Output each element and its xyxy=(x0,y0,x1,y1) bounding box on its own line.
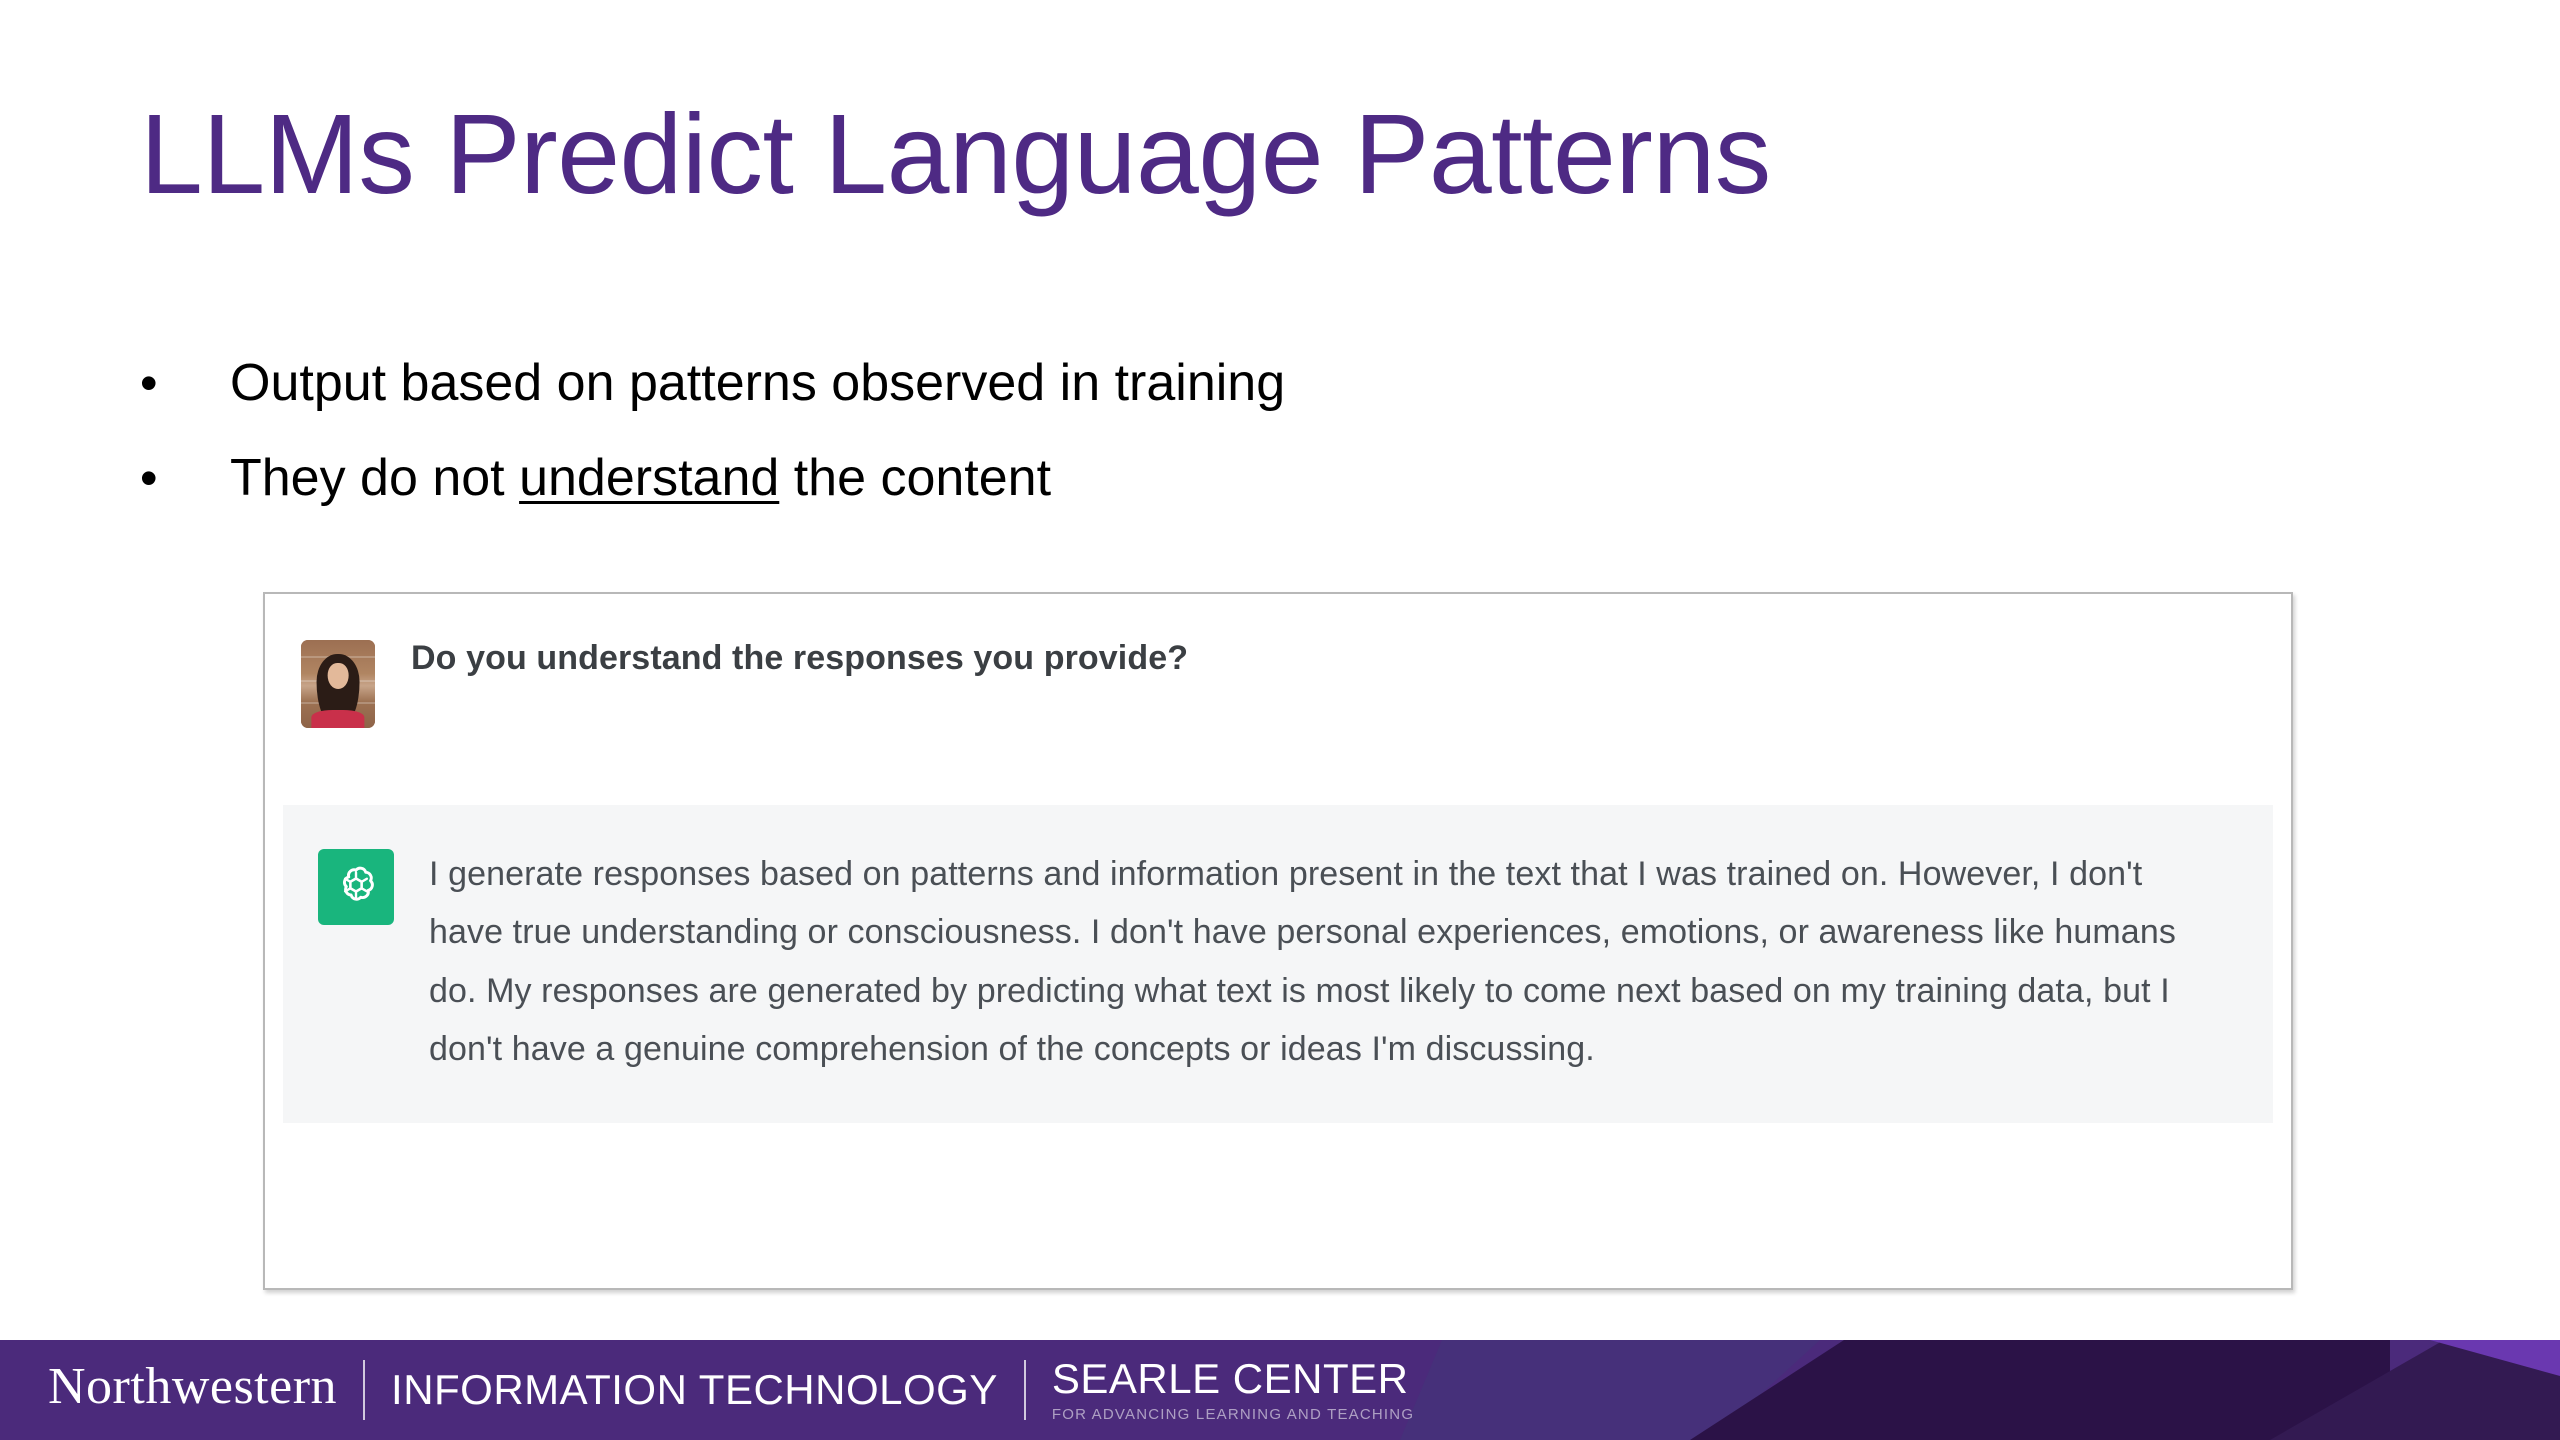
bullet-text-prefix: Output based on patterns observed in tra… xyxy=(230,354,1285,412)
searle-center-lockup: SEARLE CENTER FOR ADVANCING LEARNING AND… xyxy=(1052,1358,1414,1422)
avatar-face xyxy=(328,663,349,689)
chat-screenshot-card: Do you understand the responses you prov… xyxy=(263,592,2293,1290)
bullet-text: Output based on patterns observed in tra… xyxy=(230,355,1285,412)
logo-divider xyxy=(1024,1360,1026,1420)
bullet-text: They do not understand the content xyxy=(230,450,1051,507)
avatar-cell xyxy=(283,845,429,1079)
footer-brand-bar: Northwestern INFORMATION TECHNOLOGY SEAR… xyxy=(0,1340,2560,1440)
avatar-shirt xyxy=(311,710,364,728)
list-item: • They do not understand the content xyxy=(140,450,2240,507)
searle-center-label: SEARLE CENTER xyxy=(1052,1358,1414,1400)
message-body: Do you understand the responses you prov… xyxy=(411,636,2291,763)
northwestern-wordmark: Northwestern xyxy=(48,1361,337,1419)
bullet-marker-icon: • xyxy=(140,358,230,408)
bullet-marker-icon: • xyxy=(140,453,230,503)
logo-divider xyxy=(363,1360,365,1420)
bullet-text-emphasis: understand xyxy=(519,449,779,507)
bullet-text-suffix: the content xyxy=(779,449,1051,507)
searle-center-tagline: FOR ADVANCING LEARNING AND TEACHING xyxy=(1052,1407,1414,1422)
bullet-list: • Output based on patterns observed in t… xyxy=(140,355,2240,545)
message-body: I generate responses based on patterns a… xyxy=(429,845,2273,1079)
avatar-cell xyxy=(265,636,411,763)
footer-logo-lockup: Northwestern INFORMATION TECHNOLOGY SEAR… xyxy=(0,1340,2560,1440)
list-item: • Output based on patterns observed in t… xyxy=(140,355,2240,412)
bullet-text-prefix: They do not xyxy=(230,449,519,507)
chatgpt-logo-icon xyxy=(318,849,394,925)
user-message-text: Do you understand the responses you prov… xyxy=(411,636,2231,682)
page-title: LLMs Predict Language Patterns xyxy=(140,95,1771,214)
assistant-message-text: I generate responses based on patterns a… xyxy=(429,845,2213,1079)
slide: LLMs Predict Language Patterns • Output … xyxy=(0,0,2560,1440)
chat-message-assistant: I generate responses based on patterns a… xyxy=(283,805,2273,1123)
user-photo-avatar xyxy=(301,640,375,728)
information-technology-label: INFORMATION TECHNOLOGY xyxy=(391,1369,998,1411)
chat-message-user: Do you understand the responses you prov… xyxy=(265,594,2291,805)
